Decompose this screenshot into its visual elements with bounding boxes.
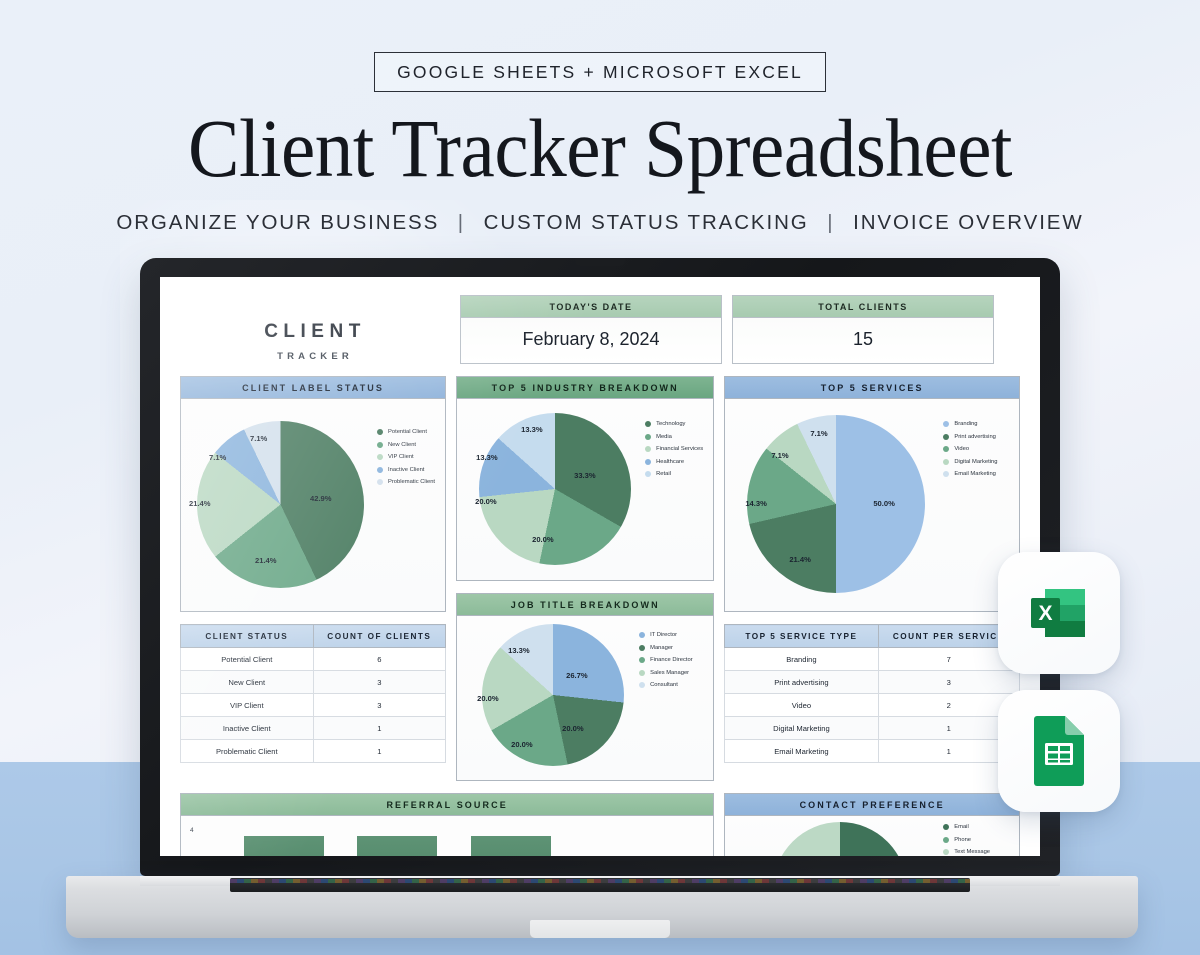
panel-referral-source: REFERRAL SOURCE 4 (180, 793, 714, 856)
legend-item-1[interactable]: New Client (377, 442, 435, 448)
cell-count: 1 (313, 740, 446, 763)
cell-service: Video (725, 694, 878, 717)
panel-client-label-status: CLIENT LABEL STATUS 42.9% 21.4% 21.4% 7.… (180, 376, 446, 612)
table-row[interactable]: Problematic Client 1 (181, 740, 446, 763)
bar-0[interactable] (244, 836, 324, 856)
cell-status: Potential Client (181, 648, 314, 671)
donut-pct-1: 21.4% (789, 555, 811, 564)
th-client-status: CLIENT STATUS (181, 625, 314, 648)
cell-count: 3 (313, 671, 446, 694)
dashboard-top-row: CLIENT TRACKER TODAY'S DATE February 8, … (180, 295, 1020, 364)
donut-pct-4: 13.3% (508, 646, 530, 655)
donut-pct-0: 26.7% (566, 671, 588, 680)
bar-2[interactable] (471, 836, 551, 856)
platform-badge: GOOGLE SHEETS + MICROSOFT EXCEL (374, 52, 826, 92)
kpi-label-total-clients: TOTAL CLIENTS (733, 296, 993, 318)
legend-swatch-digital-marketing (943, 459, 949, 465)
legend-item-3[interactable]: Inactive Client (377, 467, 435, 473)
legend-label-0: Branding (954, 421, 977, 427)
legend-swatch-healthcare (645, 459, 651, 465)
legend-item-0[interactable]: Branding (943, 421, 997, 427)
legend-item-2[interactable]: Finance Director (639, 657, 693, 663)
excel-app-card[interactable]: X (998, 552, 1120, 674)
legend-swatch-manager (639, 645, 645, 651)
donut-ring (747, 415, 925, 593)
legend-swatch-new-client (377, 442, 383, 448)
legend-item-4[interactable]: Problematic Client (377, 479, 435, 485)
cell-count: 1 (313, 717, 446, 740)
legend-label-2: Finance Director (650, 657, 693, 663)
microsoft-excel-icon: X (1025, 579, 1093, 647)
legend-label-3: Digital Marketing (954, 459, 997, 465)
legend-swatch-problematic-client (377, 479, 383, 485)
donut-pct-1: 20.0% (562, 724, 584, 733)
table-client-status: CLIENT STATUS COUNT OF CLIENTS Potential… (180, 624, 446, 763)
legend-label-1: Print advertising (954, 434, 996, 440)
panel-job-title-breakdown: JOB TITLE BREAKDOWN 26.7% 20.0% 20.0% 20… (456, 593, 714, 781)
cell-count: 6 (313, 648, 446, 671)
legend-swatch-consultant (639, 682, 645, 688)
donut-ring (479, 413, 631, 565)
legend-label-0: Technology (656, 421, 685, 427)
donut-pct-4: 7.1% (250, 434, 267, 443)
legend-industry-breakdown: Technology Media Financial Services Heal… (645, 421, 703, 484)
chart-client-label-status[interactable]: 42.9% 21.4% 21.4% 7.1% 7.1% Potential Cl… (181, 399, 445, 611)
legend-swatch-email (943, 824, 949, 830)
legend-item-3[interactable]: Healthcare (645, 459, 703, 465)
legend-label-1: Media (656, 434, 672, 440)
chart-referral-source[interactable]: 4 (181, 816, 713, 856)
donut-pct-4: 13.3% (521, 425, 543, 434)
legend-label-2: Video (954, 446, 969, 452)
legend-label-1: New Client (388, 442, 416, 448)
legend-label-0: Email (954, 824, 969, 830)
donut-pct-0: 33.3% (574, 471, 596, 480)
legend-swatch-technology (645, 421, 651, 427)
legend-item-2[interactable]: Video (943, 446, 997, 452)
donut-pct-1: 20.0% (532, 535, 554, 544)
legend-item-0[interactable]: Technology (645, 421, 703, 427)
donut-job-title-breakdown[interactable]: 26.7% 20.0% 20.0% 20.0% 13.3% (482, 624, 624, 766)
table-row[interactable]: Potential Client 6 (181, 648, 446, 671)
panel-title-job-title-breakdown: JOB TITLE BREAKDOWN (457, 594, 713, 616)
legend-item-2[interactable]: Financial Services (645, 446, 703, 452)
legend-swatch-potential-client (377, 429, 383, 435)
column-client-status: CLIENT LABEL STATUS 42.9% 21.4% 21.4% 7.… (180, 376, 446, 763)
laptop-screen: CLIENT TRACKER TODAY'S DATE February 8, … (160, 277, 1040, 856)
legend-label-2: Financial Services (656, 446, 703, 452)
chart-job-title-breakdown[interactable]: 26.7% 20.0% 20.0% 20.0% 13.3% IT Directo… (457, 616, 713, 780)
legend-item-2[interactable]: Text Message (943, 849, 990, 855)
legend-label-4: Consultant (650, 682, 678, 688)
dashboard-middle-row: CLIENT LABEL STATUS 42.9% 21.4% 21.4% 7.… (180, 376, 1020, 781)
table-row[interactable]: Print advertising 3 (725, 671, 1020, 694)
legend-item-1[interactable]: Phone (943, 837, 990, 843)
cell-status: Inactive Client (181, 717, 314, 740)
donut-top-services[interactable]: 50.0% 21.4% 14.3% 7.1% 7.1% (747, 415, 925, 593)
kpi-todays-date: TODAY'S DATE February 8, 2024 (460, 295, 722, 364)
donut-pct-3: 7.1% (209, 453, 226, 462)
dashboard-brand: CLIENT TRACKER (180, 295, 450, 364)
legend-label-4: Problematic Client (388, 479, 435, 485)
legend-label-0: IT Director (650, 632, 677, 638)
legend-item-1[interactable]: Media (645, 434, 703, 440)
y-tick-label: 4 (190, 827, 194, 834)
legend-item-3[interactable]: Sales Manager (639, 670, 693, 676)
page-title: Client Tracker Spreadsheet (42, 108, 1158, 189)
table-row[interactable]: Inactive Client 1 (181, 717, 446, 740)
brand-subtitle: TRACKER (180, 351, 450, 362)
cell-service: Email Marketing (725, 740, 878, 763)
legend-label-2: Text Message (954, 849, 990, 855)
panel-contact-preference: CONTACT PREFERENCE Email Phone Text Mess… (724, 793, 1020, 856)
legend-client-label-status: Potential Client New Client VIP Client I… (377, 429, 435, 492)
legend-item-0[interactable]: Email (943, 824, 990, 830)
cell-count: 3 (313, 694, 446, 717)
donut-pct-3: 13.3% (476, 453, 498, 462)
donut-pct-0: 42.9% (310, 494, 332, 503)
subtitle-separator-2: | (816, 211, 845, 234)
brand-title: CLIENT (180, 321, 450, 343)
table-service-type: TOP 5 SERVICE TYPE COUNT PER SERVICE Bra… (724, 624, 1020, 763)
legend-item-4[interactable]: Email Marketing (943, 471, 997, 477)
panel-title-top-services: TOP 5 SERVICES (725, 377, 1019, 399)
cell-status: New Client (181, 671, 314, 694)
donut-ring (197, 421, 364, 588)
google-sheets-icon (1028, 715, 1090, 787)
legend-top-services: Branding Print advertising Video Digital… (943, 421, 997, 484)
kpi-total-clients: TOTAL CLIENTS 15 (732, 295, 994, 364)
table-header-row: CLIENT STATUS COUNT OF CLIENTS (181, 625, 446, 648)
laptop-trackpad (530, 920, 670, 938)
table-header-row: TOP 5 SERVICE TYPE COUNT PER SERVICE (725, 625, 1020, 648)
feature-3: INVOICE OVERVIEW (853, 211, 1084, 234)
donut-pct-3: 7.1% (771, 451, 788, 460)
feature-1: ORGANIZE YOUR BUSINESS (116, 211, 439, 234)
cell-status: VIP Client (181, 694, 314, 717)
legend-job-title-breakdown: IT Director Manager Finance Director Sal… (639, 632, 693, 695)
panel-title-industry-breakdown: TOP 5 INDUSTRY BREAKDOWN (457, 377, 713, 399)
legend-item-1[interactable]: Print advertising (943, 434, 997, 440)
legend-label-1: Phone (954, 837, 971, 843)
legend-swatch-media (645, 434, 651, 440)
legend-swatch-branding (943, 421, 949, 427)
th-service-type: TOP 5 SERVICE TYPE (725, 625, 878, 648)
spreadsheet-dashboard: CLIENT TRACKER TODAY'S DATE February 8, … (160, 277, 1040, 856)
donut-pct-3: 20.0% (477, 694, 499, 703)
column-services: TOP 5 SERVICES 50.0% 21.4% 14.3% 7.1% 7.… (724, 376, 1020, 763)
panel-title-client-label-status: CLIENT LABEL STATUS (181, 377, 445, 399)
feature-subtitle: ORGANIZE YOUR BUSINESS | CUSTOM STATUS T… (0, 211, 1200, 235)
panel-industry-breakdown: TOP 5 INDUSTRY BREAKDOWN 33.3% 20.0% 20.… (456, 376, 714, 581)
legend-swatch-it-director (639, 632, 645, 638)
donut-pct-0: 50.0% (873, 499, 895, 508)
laptop-notch (575, 258, 625, 266)
legend-swatch-sales-manager (639, 670, 645, 676)
cell-count: 3 (878, 671, 1019, 694)
legend-item-0[interactable]: IT Director (639, 632, 693, 638)
subtitle-separator-1: | (447, 211, 476, 234)
legend-item-0[interactable]: Potential Client (377, 429, 435, 435)
legend-label-4: Retail (656, 471, 671, 477)
legend-swatch-vip-client (377, 454, 383, 460)
legend-contact-preference: Email Phone Text Message (943, 824, 990, 856)
chart-contact-preference[interactable]: Email Phone Text Message (725, 816, 1019, 856)
panel-title-referral-source: REFERRAL SOURCE (181, 794, 713, 816)
kpi-value-date[interactable]: February 8, 2024 (461, 318, 721, 363)
legend-label-4: Email Marketing (954, 471, 996, 477)
column-breakdowns: TOP 5 INDUSTRY BREAKDOWN 33.3% 20.0% 20.… (456, 376, 714, 781)
panel-title-contact-preference: CONTACT PREFERENCE (725, 794, 1019, 816)
cell-service: Branding (725, 648, 878, 671)
legend-swatch-email-marketing (943, 471, 949, 477)
donut-pct-1: 21.4% (255, 556, 277, 565)
svg-text:X: X (1038, 602, 1052, 625)
table-row[interactable]: Video 2 (725, 694, 1020, 717)
cell-status: Problematic Client (181, 740, 314, 763)
table-row[interactable]: VIP Client 3 (181, 694, 446, 717)
cell-service: Print advertising (725, 671, 878, 694)
table-row[interactable]: Email Marketing 1 (725, 740, 1020, 763)
table-row[interactable]: New Client 3 (181, 671, 446, 694)
th-count-of-clients: COUNT OF CLIENTS (313, 625, 446, 648)
legend-label-1: Manager (650, 645, 673, 651)
table-row[interactable]: Digital Marketing 1 (725, 717, 1020, 740)
laptop-keyboard (230, 878, 970, 892)
chart-top-services[interactable]: 50.0% 21.4% 14.3% 7.1% 7.1% Branding Pri… (725, 399, 1019, 611)
donut-pct-2: 21.4% (189, 499, 211, 508)
donut-industry-breakdown[interactable]: 33.3% 20.0% 20.0% 13.3% 13.3% (479, 413, 631, 565)
donut-client-label-status[interactable]: 42.9% 21.4% 21.4% 7.1% 7.1% (197, 421, 364, 588)
pie-contact-preference (773, 822, 907, 856)
legend-swatch-retail (645, 471, 651, 477)
panel-top-services: TOP 5 SERVICES 50.0% 21.4% 14.3% 7.1% 7.… (724, 376, 1020, 612)
legend-item-3[interactable]: Digital Marketing (943, 459, 997, 465)
legend-label-2: VIP Client (388, 454, 414, 460)
feature-2: CUSTOM STATUS TRACKING (484, 211, 809, 234)
legend-swatch-print-advertising (943, 434, 949, 440)
cell-service: Digital Marketing (725, 717, 878, 740)
donut-ring (482, 624, 624, 766)
legend-swatch-video (943, 446, 949, 452)
legend-item-4[interactable]: Retail (645, 471, 703, 477)
legend-item-1[interactable]: Manager (639, 645, 693, 651)
legend-swatch-text-message (943, 849, 949, 855)
bar-1[interactable] (357, 836, 437, 856)
legend-item-2[interactable]: VIP Client (377, 454, 435, 460)
legend-label-3: Sales Manager (650, 670, 689, 676)
chart-industry-breakdown[interactable]: 33.3% 20.0% 20.0% 13.3% 13.3% Technology… (457, 399, 713, 580)
table-row[interactable]: Branding 7 (725, 648, 1020, 671)
google-sheets-app-card[interactable] (998, 690, 1120, 812)
donut-pct-2: 14.3% (745, 499, 767, 508)
legend-swatch-financial-services (645, 446, 651, 452)
donut-pct-4: 7.1% (810, 429, 827, 438)
donut-pct-2: 20.0% (475, 497, 497, 506)
legend-swatch-inactive-client (377, 467, 383, 473)
legend-label-3: Inactive Client (388, 467, 424, 473)
donut-pct-2: 20.0% (511, 740, 533, 749)
kpi-label-date: TODAY'S DATE (461, 296, 721, 318)
legend-swatch-phone (943, 837, 949, 843)
kpi-value-total-clients[interactable]: 15 (733, 318, 993, 363)
legend-label-3: Healthcare (656, 459, 684, 465)
legend-item-4[interactable]: Consultant (639, 682, 693, 688)
dashboard-bottom-row: REFERRAL SOURCE 4 CONTACT PREFERENCE Ema… (180, 793, 1020, 856)
promo-header: GOOGLE SHEETS + MICROSOFT EXCEL Client T… (0, 0, 1200, 235)
legend-swatch-finance-director (639, 657, 645, 663)
legend-label-0: Potential Client (388, 429, 427, 435)
